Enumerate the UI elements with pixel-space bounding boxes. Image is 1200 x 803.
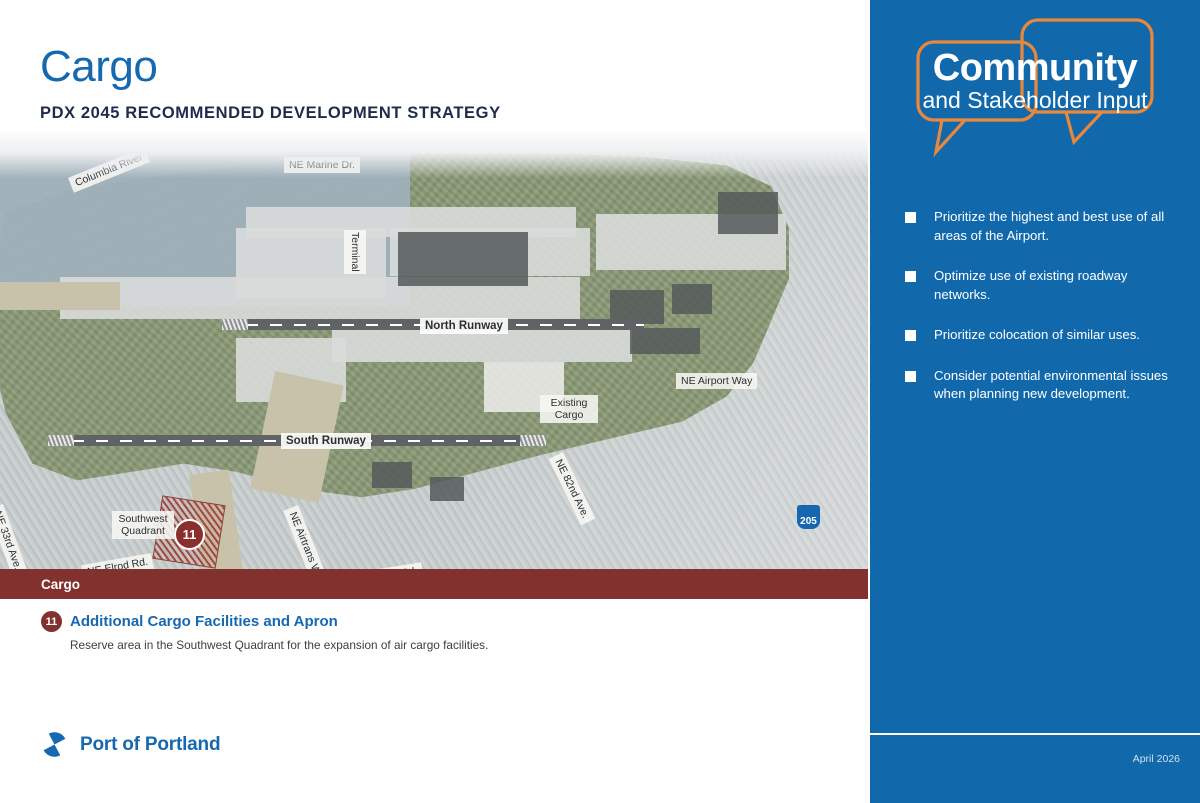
port-of-portland-name: Port of Portland (80, 734, 220, 756)
map-building (718, 192, 778, 234)
caption-bar-label: Cargo (41, 577, 80, 592)
map-tan-surface (0, 282, 120, 310)
interstate-205-shield: 205 (797, 505, 820, 529)
list-item-text: Prioritize colocation of similar uses. (934, 326, 1140, 345)
page-title: Cargo (40, 44, 501, 90)
port-of-portland-logo-icon (41, 731, 68, 758)
map-building (672, 284, 712, 314)
list-item: Prioritize the highest and best use of a… (905, 208, 1185, 245)
square-bullet-icon (905, 371, 916, 382)
recommendation-item-number: 11 (41, 611, 62, 632)
map-building (630, 328, 700, 354)
map-label-existing-cargo-east: ExistingCargo (540, 395, 598, 423)
recommendation-item-description: Reserve area in the Southwest Quadrant f… (70, 637, 741, 653)
map-label-southwest-quadrant: SouthwestQuadrant (112, 511, 174, 539)
title-block: Cargo PDX 2045 RECOMMENDED DEVELOPMENT S… (40, 44, 501, 123)
map-north-runway-strip-east (492, 319, 644, 330)
map-label-south-runway: South Runway (281, 433, 371, 449)
sidebar-bullet-list: Prioritize the highest and best use of a… (905, 208, 1185, 426)
footer: Port of Portland (41, 731, 220, 758)
list-item-text: Optimize use of existing roadway network… (934, 267, 1185, 304)
square-bullet-icon (905, 330, 916, 341)
recommendation-item-header: 11 Additional Cargo Facilities and Apron (41, 611, 741, 632)
page-subtitle: PDX 2045 RECOMMENDED DEVELOPMENT STRATEG… (40, 104, 501, 123)
recommendation-item-title: Additional Cargo Facilities and Apron (70, 613, 338, 630)
map-label-terminal: Terminal (344, 230, 366, 274)
list-item: Optimize use of existing roadway network… (905, 267, 1185, 304)
map-marker-11[interactable]: 11 (174, 519, 205, 550)
caption-bar: Cargo (0, 569, 868, 599)
map-top-fade-overlay (0, 132, 868, 178)
square-bullet-icon (905, 271, 916, 282)
sidebar-header: Community and Stakeholder Input (870, 0, 1200, 180)
recommendation-item: 11 Additional Cargo Facilities and Apron… (41, 611, 741, 653)
sidebar-divider (870, 733, 1200, 735)
sidebar-title-sub: and Stakeholder Input (870, 86, 1200, 114)
list-item-text: Consider potential environmental issues … (934, 367, 1185, 404)
map-label-ne-airport-way: NE Airport Way (676, 373, 757, 389)
list-item-text: Prioritize the highest and best use of a… (934, 208, 1185, 245)
map-building (372, 462, 412, 488)
sidebar-title-block: Community and Stakeholder Input (870, 48, 1200, 114)
list-item: Consider potential environmental issues … (905, 367, 1185, 404)
map-building (430, 477, 464, 501)
sidebar-date: April 2026 (870, 753, 1180, 765)
sidebar-title-main: Community (870, 48, 1200, 88)
airport-map[interactable]: 11 205 Columbia River NE Marine Dr. Nort… (0, 132, 868, 569)
square-bullet-icon (905, 212, 916, 223)
map-building (398, 232, 528, 286)
slide-page: Cargo PDX 2045 RECOMMENDED DEVELOPMENT S… (0, 0, 1200, 803)
map-label-north-runway: North Runway (420, 318, 508, 334)
list-item: Prioritize colocation of similar uses. (905, 326, 1185, 345)
left-content-panel: Cargo PDX 2045 RECOMMENDED DEVELOPMENT S… (0, 0, 870, 803)
